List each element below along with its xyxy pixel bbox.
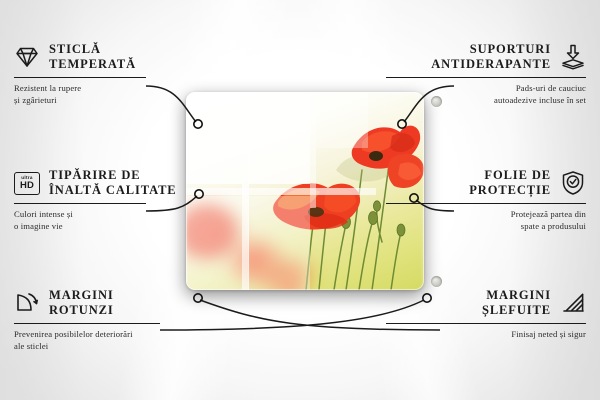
feature-title: STICLĂ TEMPERATĂ	[49, 42, 136, 73]
feature-header: ultra HD TIPĂRIRE DE ÎNALTĂ CALITATE	[14, 168, 214, 199]
feature-description: Finisaj neted și sigur	[386, 328, 586, 340]
feature-divider	[14, 323, 160, 324]
feature-title: MARGINI ROTUNZI	[49, 288, 114, 319]
feature-anti-slip-pads: SUPORTURI ANTIDERAPANTE Pads-uri de cauc…	[386, 42, 586, 107]
feature-description: Pads-uri de cauciuc autoadezive incluse …	[386, 82, 586, 107]
feature-header: MARGINI ȘLEFUITE	[386, 288, 586, 319]
anti-slip-pad-icon	[560, 44, 586, 70]
feature-tempered-glass: STICLĂ TEMPERATĂ Rezistent la rupere și …	[14, 42, 214, 107]
feature-divider	[14, 77, 146, 78]
polished-edge-icon	[560, 290, 586, 316]
feature-divider	[386, 203, 586, 204]
feature-title: FOLIE DE PROTECȚIE	[469, 168, 551, 199]
feature-polished-edges: MARGINI ȘLEFUITE Finisaj neted și sigur	[386, 288, 586, 340]
feature-rounded-edges: MARGINI ROTUNZI Prevenirea posibilelor d…	[14, 288, 214, 353]
feature-description: Prevenirea posibilelor deteriorări ale s…	[14, 328, 214, 353]
rounded-corner-icon	[14, 290, 40, 316]
ultra-hd-icon: ultra HD	[14, 172, 40, 195]
mounting-pad-bottom-right	[431, 276, 442, 287]
feature-protective-foil: FOLIE DE PROTECȚIE Protejează partea din…	[386, 168, 586, 233]
feature-title: MARGINI ȘLEFUITE	[482, 288, 551, 319]
feature-description: Protejează partea din spate a produsului	[386, 208, 586, 233]
infographic-canvas: STICLĂ TEMPERATĂ Rezistent la rupere și …	[0, 0, 600, 400]
feature-hd-printing: ultra HD TIPĂRIRE DE ÎNALTĂ CALITATE Cul…	[14, 168, 214, 233]
diamond-icon	[14, 44, 40, 70]
feature-divider	[386, 77, 586, 78]
feature-header: STICLĂ TEMPERATĂ	[14, 42, 214, 73]
feature-header: FOLIE DE PROTECȚIE	[386, 168, 586, 199]
feature-title: SUPORTURI ANTIDERAPANTE	[431, 42, 551, 73]
shield-check-icon	[560, 170, 586, 196]
feature-divider	[14, 203, 146, 204]
feature-description: Culori intense și o imagine vie	[14, 208, 214, 233]
feature-title: TIPĂRIRE DE ÎNALTĂ CALITATE	[49, 168, 177, 199]
feature-header: SUPORTURI ANTIDERAPANTE	[386, 42, 586, 73]
feature-description: Rezistent la rupere și zgârieturi	[14, 82, 214, 107]
feature-header: MARGINI ROTUNZI	[14, 288, 214, 319]
feature-divider	[386, 323, 586, 324]
